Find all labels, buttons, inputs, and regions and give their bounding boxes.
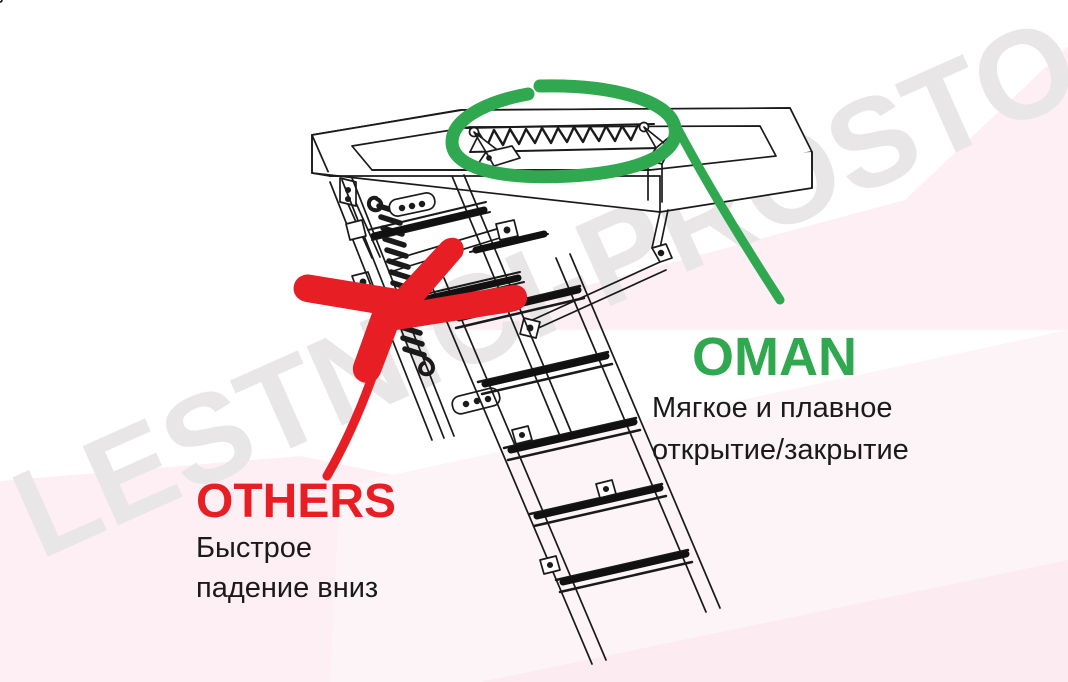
red-arrow-callout: [0, 0, 1068, 682]
others-description-line2: падение вниз: [196, 574, 378, 603]
oman-description-line2: открытие/закрытие: [652, 436, 909, 465]
oman-title: OMAN: [692, 330, 857, 384]
others-description-line1: Быстрое: [196, 534, 312, 563]
infographic-canvas: LESTNICI-PROSTO.RU: [0, 0, 1068, 682]
red-arrow-icon: [294, 238, 528, 383]
oman-description-line1: Мягкое и плавное: [652, 394, 892, 423]
others-title: OTHERS: [196, 478, 396, 526]
